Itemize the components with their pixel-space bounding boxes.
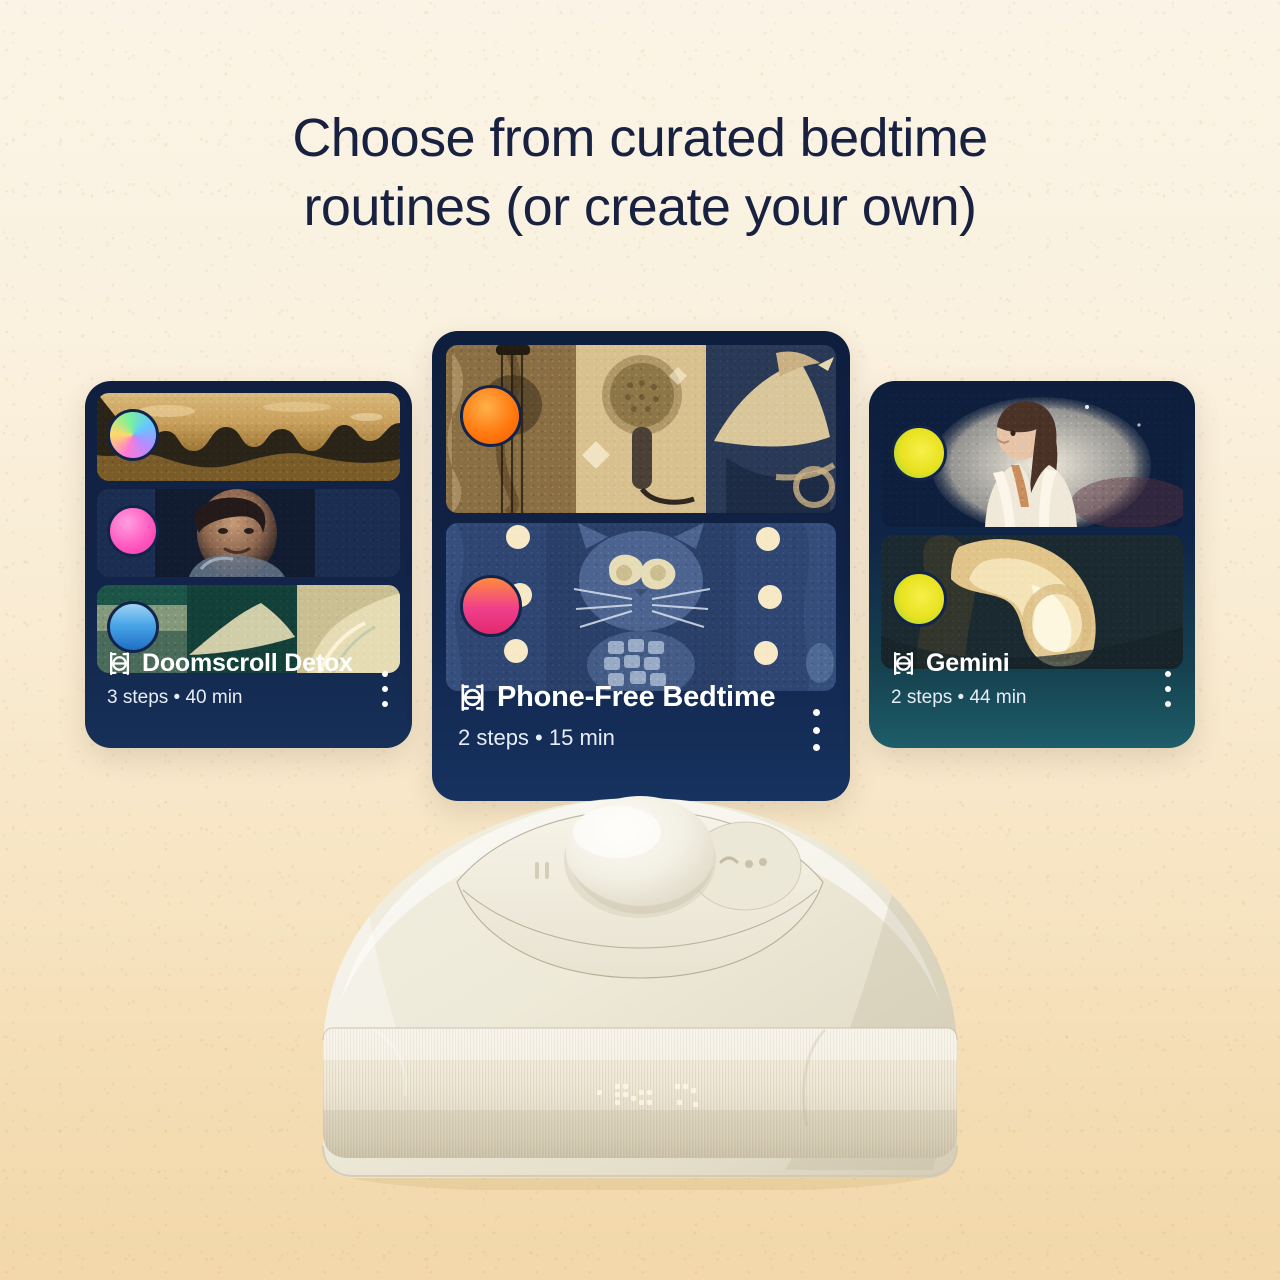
card-title: Doomscroll Detox: [142, 649, 353, 678]
routine-card-phone-free-bedtime[interactable]: Phone-Free Bedtime 2 steps • 15 min: [432, 331, 850, 801]
card-subtitle: 2 steps • 15 min: [458, 725, 850, 751]
page-headline: Choose from curated bedtime routines (or…: [0, 104, 1280, 241]
thumbnail-row[interactable]: [446, 523, 836, 691]
card-subtitle: 3 steps • 40 min: [107, 687, 412, 709]
kebab-menu-icon[interactable]: [813, 709, 820, 751]
thumbnail-row[interactable]: [97, 393, 400, 481]
routine-step-badge-blue: [107, 601, 159, 653]
thumbnail-row[interactable]: [446, 345, 836, 513]
routine-step-badge-orange: [460, 385, 522, 447]
card-meta: Phone-Free Bedtime 2 steps • 15 min: [458, 681, 850, 751]
card-meta: Gemini 2 steps • 44 min: [891, 649, 1195, 709]
routine-card-doomscroll-detox[interactable]: Doomscroll Detox 3 steps • 40 min: [85, 381, 412, 748]
kebab-menu-icon[interactable]: [382, 671, 388, 707]
thumbnail-strip: [869, 381, 1195, 681]
routine-step-badge-yellow: [891, 571, 947, 627]
routine-card-gemini[interactable]: Gemini 2 steps • 44 min: [869, 381, 1195, 748]
routine-step-badge-magenta: [460, 575, 522, 637]
routine-step-badge-iridescent: [107, 409, 159, 461]
card-meta: Doomscroll Detox 3 steps • 40 min: [107, 649, 412, 709]
thumbnail-row[interactable]: [97, 489, 400, 577]
routine-icon: [458, 683, 487, 712]
speaker-fabric-panel: [305, 1020, 975, 1170]
bedside-speaker-device: [305, 790, 975, 1190]
card-subtitle: 2 steps • 44 min: [891, 687, 1195, 709]
thumbnail-strip: [85, 381, 412, 685]
routine-step-badge-yellow: [891, 425, 947, 481]
routine-icon: [107, 651, 132, 676]
thumbnail-row[interactable]: [881, 393, 1183, 527]
card-title: Gemini: [926, 649, 1010, 678]
routine-step-badge-pink: [107, 505, 159, 557]
kebab-menu-icon[interactable]: [1165, 671, 1171, 707]
routine-icon: [891, 651, 916, 676]
top-dial-button[interactable]: [564, 796, 716, 918]
thumbnail-strip: [432, 331, 850, 705]
card-title: Phone-Free Bedtime: [497, 681, 775, 714]
